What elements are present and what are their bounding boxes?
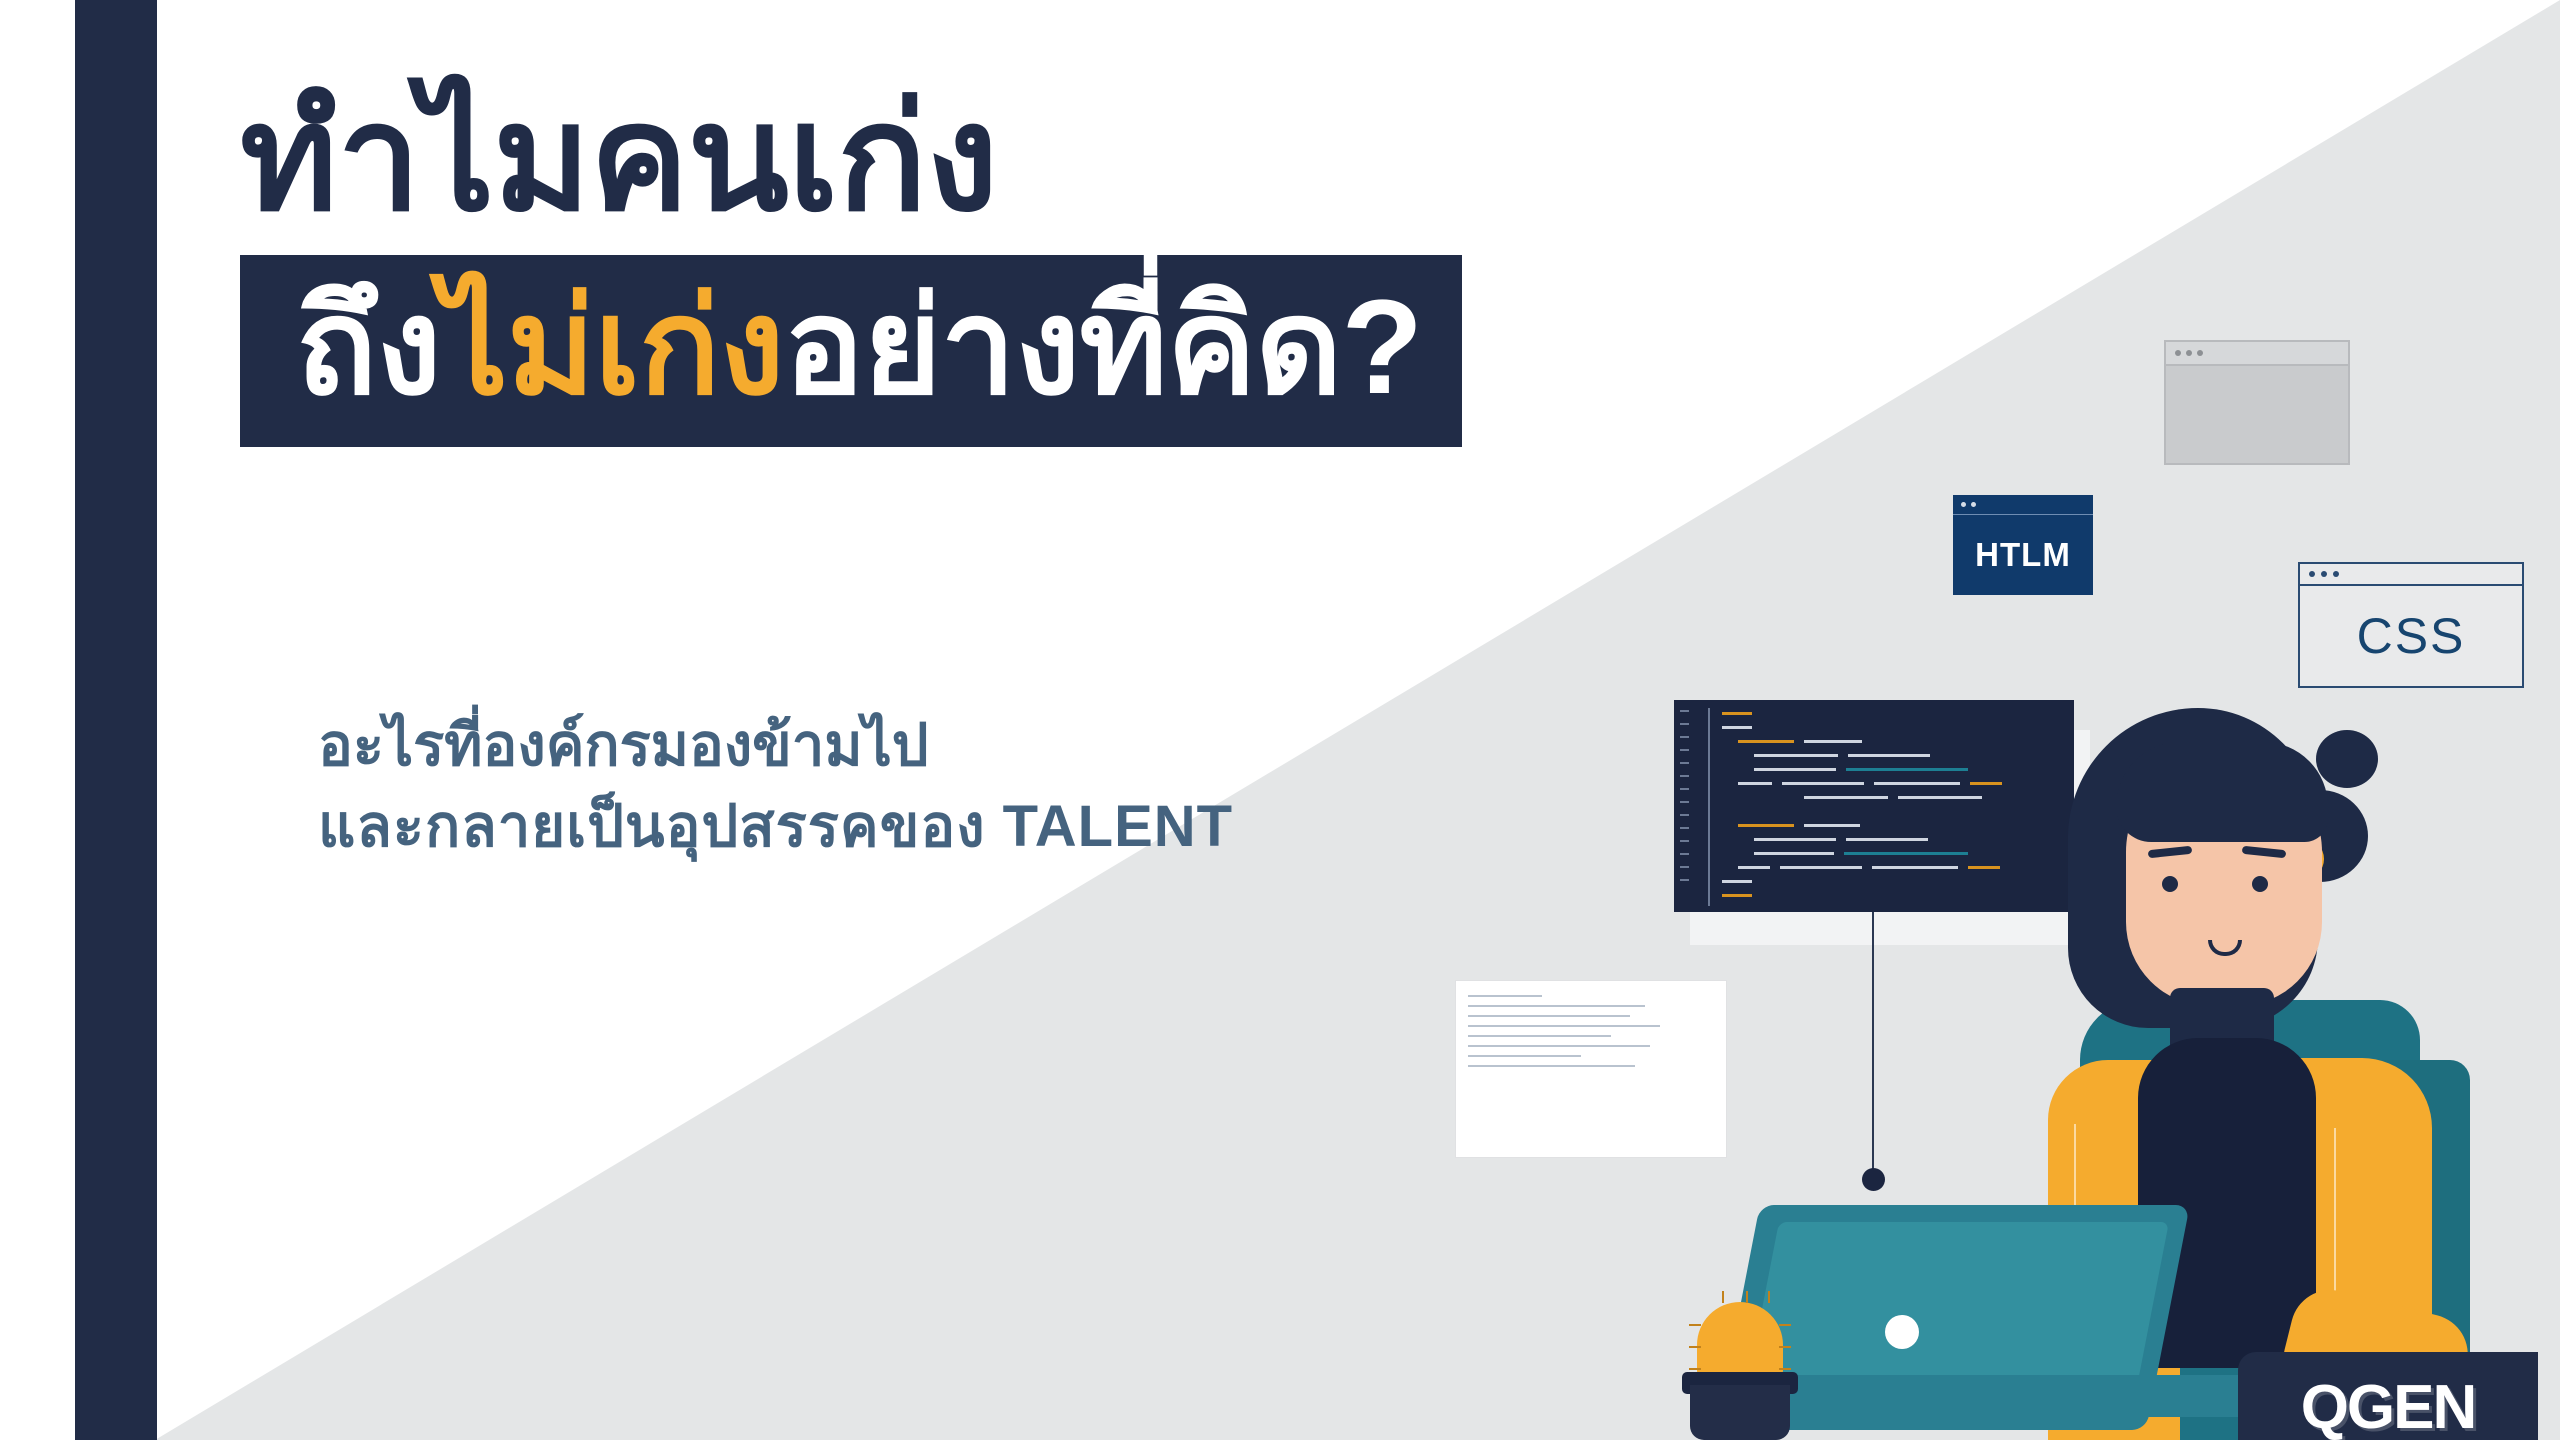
headline-block: ทำไมคนเก่ง ถึงไม่เก่งอย่างที่คิด?: [240, 85, 1660, 447]
headline-highlight-box: ถึงไม่เก่งอย่างที่คิด?: [240, 255, 1462, 447]
grey-browser-window: [2164, 340, 2350, 465]
html-window-label: HTLM: [1953, 515, 2093, 595]
brand-logo-badge[interactable]: QGEN: [2238, 1352, 2538, 1440]
window-dot-icon: [2321, 571, 2327, 577]
connector-dot-icon: [1862, 1168, 1885, 1191]
document-sheet: [1455, 980, 1727, 1158]
window-dot-icon: [2186, 350, 2192, 356]
headline-line-2-accent: ไม่เก่ง: [441, 273, 784, 422]
css-window-label: CSS: [2300, 586, 2522, 686]
poster-canvas: ทำไมคนเก่ง ถึงไม่เก่งอย่างที่คิด? อะไรที…: [0, 0, 2560, 1440]
subtitle-line-1: อะไรที่องค์กรมองข้ามไป: [318, 705, 1718, 786]
laptop-logo-dot: [1885, 1315, 1919, 1349]
hair-bun-small: [2316, 730, 2378, 788]
eye-right: [2252, 876, 2268, 892]
window-dot-icon: [2309, 571, 2315, 577]
subtitle-block: อะไรที่องค์กรมองข้ามไป และกลายเป็นอุปสรร…: [318, 705, 1718, 867]
window-title-bar: [2300, 564, 2522, 586]
css-browser-window: CSS: [2298, 562, 2524, 688]
code-gutter-divider: [1708, 708, 1710, 906]
left-accent-bar: [75, 0, 157, 1440]
code-gutter: [1680, 710, 1702, 904]
window-dot-icon: [1961, 502, 1966, 507]
headline-line-2-suffix: อย่างที่คิด?: [784, 273, 1423, 422]
brand-logo-text: QGEN: [2301, 1372, 2476, 1440]
window-dot-icon: [2333, 571, 2339, 577]
hair-fringe: [2116, 742, 2328, 842]
window-dot-icon: [1971, 502, 1976, 507]
code-lines: [1722, 712, 2064, 908]
window-dot-icon: [2197, 350, 2203, 356]
html-browser-window: HTLM: [1953, 495, 2093, 595]
cactus-pot: [1690, 1385, 1790, 1440]
eye-left: [2162, 876, 2178, 892]
code-editor-window: [1674, 700, 2074, 912]
window-dot-icon: [2175, 350, 2181, 356]
window-title-bar: [1953, 495, 2093, 515]
connector-line: [1872, 912, 1874, 1177]
subtitle-line-2: และกลายเป็นอุปสรรคของ TALENT: [318, 786, 1718, 867]
window-title-bar: [2166, 342, 2348, 366]
headline-line-1: ทำไมคนเก่ง: [240, 85, 1660, 233]
headline-line-2-prefix: ถึง: [296, 273, 441, 422]
